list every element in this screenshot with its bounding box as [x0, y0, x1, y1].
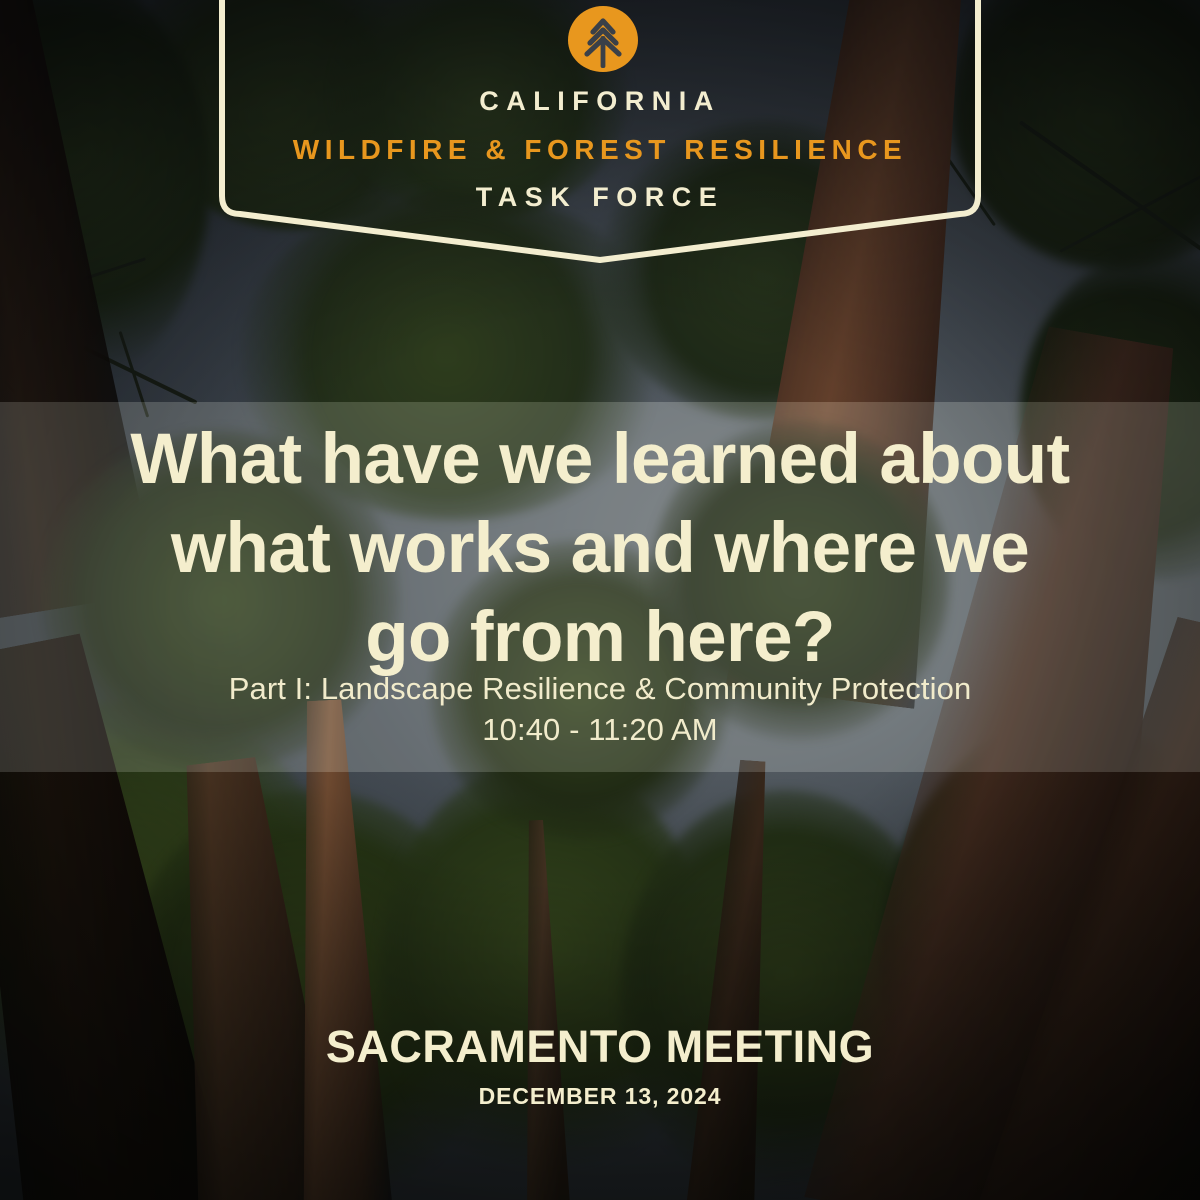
headline-line-2: what works and where we [0, 504, 1200, 593]
logo-line-california: CALIFORNIA [0, 86, 1200, 117]
headline-line-1: What have we learned about [0, 415, 1200, 504]
session-headline: What have we learned about what works an… [0, 415, 1200, 682]
session-part-label: Part I: Landscape Resilience & Community… [0, 668, 1200, 709]
logo-line-task-force: TASK FORCE [0, 182, 1200, 213]
session-time-label: 10:40 - 11:20 AM [0, 709, 1200, 750]
pine-tree-icon [568, 6, 638, 72]
task-force-logo: CALIFORNIA WILDFIRE & FOREST RESILIENCE … [0, 0, 1200, 270]
logo-line-wildfire-forest-resilience: WILDFIRE & FOREST RESILIENCE [0, 134, 1200, 166]
session-subtitle: Part I: Landscape Resilience & Community… [0, 668, 1200, 750]
event-poster: CALIFORNIA WILDFIRE & FOREST RESILIENCE … [0, 0, 1200, 1200]
meeting-title: SACRAMENTO MEETING [0, 1020, 1200, 1074]
event-footer: SACRAMENTO MEETING DECEMBER 13, 2024 [0, 1020, 1200, 1110]
meeting-date: DECEMBER 13, 2024 [0, 1082, 1200, 1110]
pine-tree-logo-mark [568, 6, 638, 72]
